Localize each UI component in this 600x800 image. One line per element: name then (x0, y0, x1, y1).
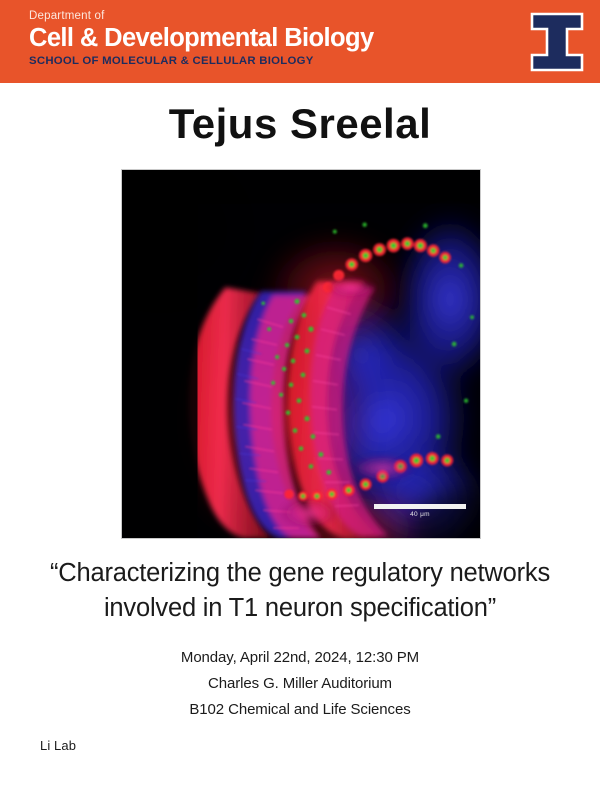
seminar-poster: Department of Cell & Developmental Biolo… (0, 0, 600, 800)
confocal-micrograph-image (122, 170, 480, 538)
event-building: B102 Chemical and Life Sciences (0, 697, 600, 723)
scale-bar-line (374, 504, 466, 509)
department-prefix-label: Department of (29, 9, 374, 23)
scale-bar: 40 μm (374, 504, 466, 519)
department-header-banner: Department of Cell & Developmental Biolo… (0, 0, 600, 83)
scale-bar-label: 40 μm (374, 510, 466, 519)
event-venue: Charles G. Miller Auditorium (0, 671, 600, 697)
department-name-title: Cell & Developmental Biology (29, 24, 374, 52)
lab-credit-label: Li Lab (40, 737, 76, 755)
header-text-block: Department of Cell & Developmental Biolo… (29, 9, 374, 69)
illinois-block-i-logo-icon (528, 11, 586, 73)
micrograph-figure: 40 μm (121, 169, 481, 539)
talk-title-heading: “Characterizing the gene regulatory netw… (24, 556, 576, 626)
school-name-label: SCHOOL OF MOLECULAR & CELLULAR BIOLOGY (29, 54, 374, 69)
event-datetime: Monday, April 22nd, 2024, 12:30 PM (0, 645, 600, 671)
event-details-block: Monday, April 22nd, 2024, 12:30 PM Charl… (0, 645, 600, 723)
speaker-name-heading: Tejus Sreelal (0, 100, 600, 148)
